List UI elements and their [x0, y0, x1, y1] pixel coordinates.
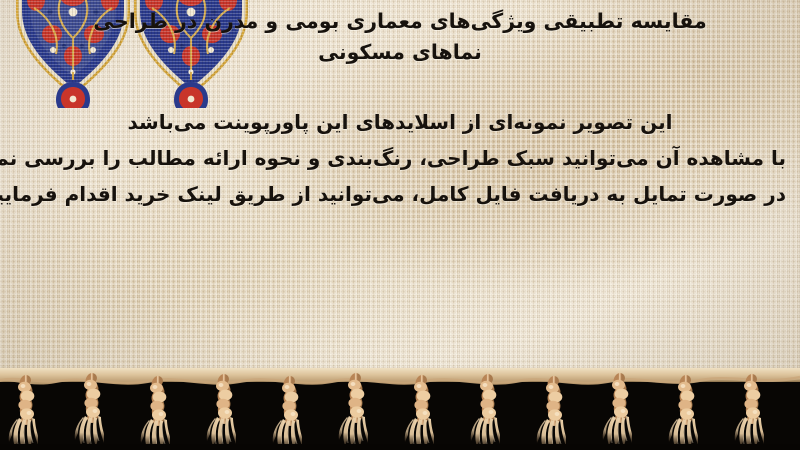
band-bottom-fill — [0, 444, 800, 450]
slide-canvas: مقایسه تطبیقی ویژگی‌های معماری بومی و مد… — [0, 0, 800, 450]
slide-title-line-2: نماهای مسکونی — [36, 37, 764, 68]
slide-body: این تصویر نمونه‌ای از اسلایدهای این پاور… — [0, 112, 800, 204]
carpet-fringe-band — [0, 368, 800, 450]
slide-title-line-1: مقایسه تطبیقی ویژگی‌های معماری بومی و مد… — [93, 9, 706, 33]
body-line-2: با مشاهده آن می‌توانید سبک طراحی، رنگ‌بن… — [14, 148, 786, 168]
slide-title: مقایسه تطبیقی ویژگی‌های معماری بومی و مد… — [0, 6, 800, 68]
fringe-tassels — [0, 368, 800, 450]
body-line-3: در صورت تمایل به دریافت فایل کامل، می‌تو… — [14, 184, 786, 204]
text-layer: مقایسه تطبیقی ویژگی‌های معماری بومی و مد… — [0, 0, 800, 375]
body-line-1: این تصویر نمونه‌ای از اسلایدهای این پاور… — [14, 112, 786, 132]
